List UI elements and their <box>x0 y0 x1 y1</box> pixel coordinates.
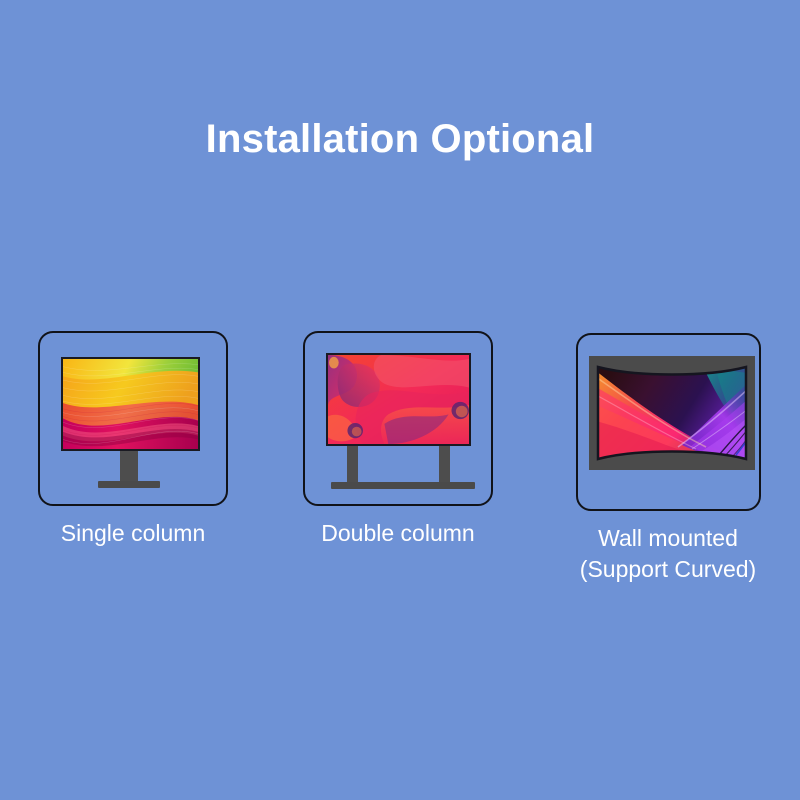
option-label-single-column: Single column <box>8 518 258 549</box>
monitor-stand-leg-left-double <box>347 446 358 484</box>
monitor-screen-double-column <box>326 353 471 446</box>
screen-artwork-blobs <box>328 355 469 444</box>
monitor-screen-single-column <box>61 357 200 451</box>
installation-options-page: Installation Optional <box>0 0 800 800</box>
page-title: Installation Optional <box>0 113 800 165</box>
option-label-double-column: Double column <box>273 518 523 549</box>
monitor-stand-neck-single <box>120 451 138 483</box>
screen-artwork-curved-ribbons <box>596 365 748 461</box>
monitor-screen-wall-mounted <box>596 365 748 461</box>
monitor-stand-base-double <box>331 482 475 489</box>
monitor-stand-leg-right-double <box>439 446 450 484</box>
monitor-stand-base-single <box>98 481 160 488</box>
option-label-wall-mounted: Wall mounted (Support Curved) <box>543 523 793 585</box>
screen-artwork-waves <box>63 359 198 449</box>
